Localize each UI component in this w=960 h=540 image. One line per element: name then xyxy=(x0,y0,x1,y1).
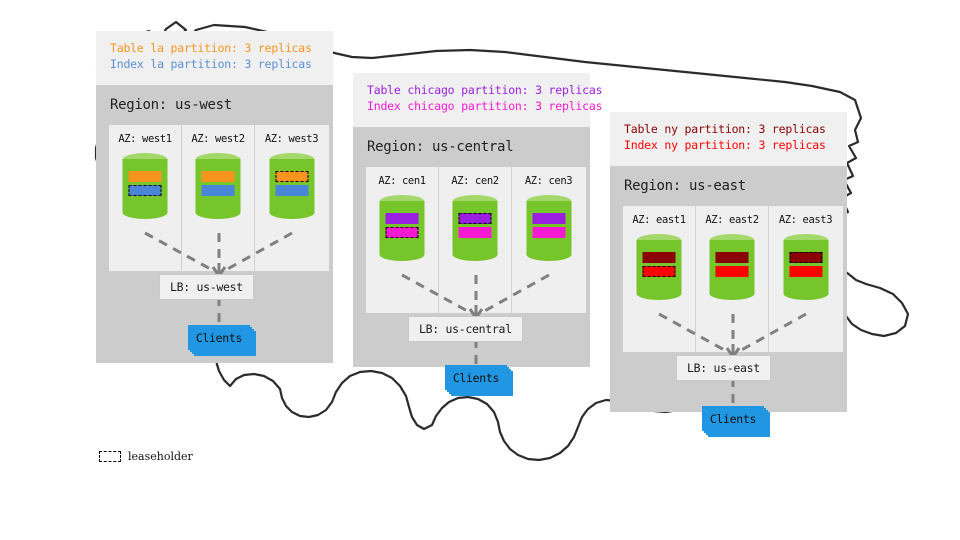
table-partition-label: Table chicago partition: 3 replicas xyxy=(367,82,576,98)
region-header-us-west: Table la partition: 3 replicas Index la … xyxy=(96,31,333,85)
table-partition-label: Table la partition: 3 replicas xyxy=(110,40,319,56)
region-header-us-central: Table chicago partition: 3 replicas Inde… xyxy=(353,73,590,127)
clients-label: Clients xyxy=(445,365,507,390)
clients-us-central[interactable]: Clients xyxy=(445,365,507,390)
table-partition-label: Table ny partition: 3 replicas xyxy=(624,121,833,137)
region-body-us-west: Region: us-west AZ: west1 AZ: west2 xyxy=(96,85,333,363)
load-balancer-us-east[interactable]: LB: us-east xyxy=(676,355,771,381)
index-partition-label: Index chicago partition: 3 replicas xyxy=(367,98,576,114)
diagram-canvas: Table la partition: 3 replicas Index la … xyxy=(0,0,960,540)
legend-label: leaseholder xyxy=(128,450,193,463)
clients-us-east[interactable]: Clients xyxy=(702,406,764,431)
load-balancer-us-west[interactable]: LB: us-west xyxy=(159,274,254,300)
region-header-us-east: Table ny partition: 3 replicas Index ny … xyxy=(610,112,847,166)
clients-label: Clients xyxy=(702,406,764,431)
legend-leaseholder: leaseholder xyxy=(99,450,193,463)
index-partition-label: Index la partition: 3 replicas xyxy=(110,56,319,72)
clients-label: Clients xyxy=(188,325,250,350)
az-to-lb-connectors xyxy=(96,85,333,363)
clients-us-west[interactable]: Clients xyxy=(188,325,250,350)
index-partition-label: Index ny partition: 3 replicas xyxy=(624,137,833,153)
dashed-rect-icon xyxy=(99,451,121,462)
region-body-us-central: Region: us-central AZ: cen1 AZ: cen2 xyxy=(353,127,590,367)
region-body-us-east: Region: us-east AZ: east1 AZ: east2 xyxy=(610,166,847,412)
load-balancer-us-central[interactable]: LB: us-central xyxy=(408,316,523,342)
